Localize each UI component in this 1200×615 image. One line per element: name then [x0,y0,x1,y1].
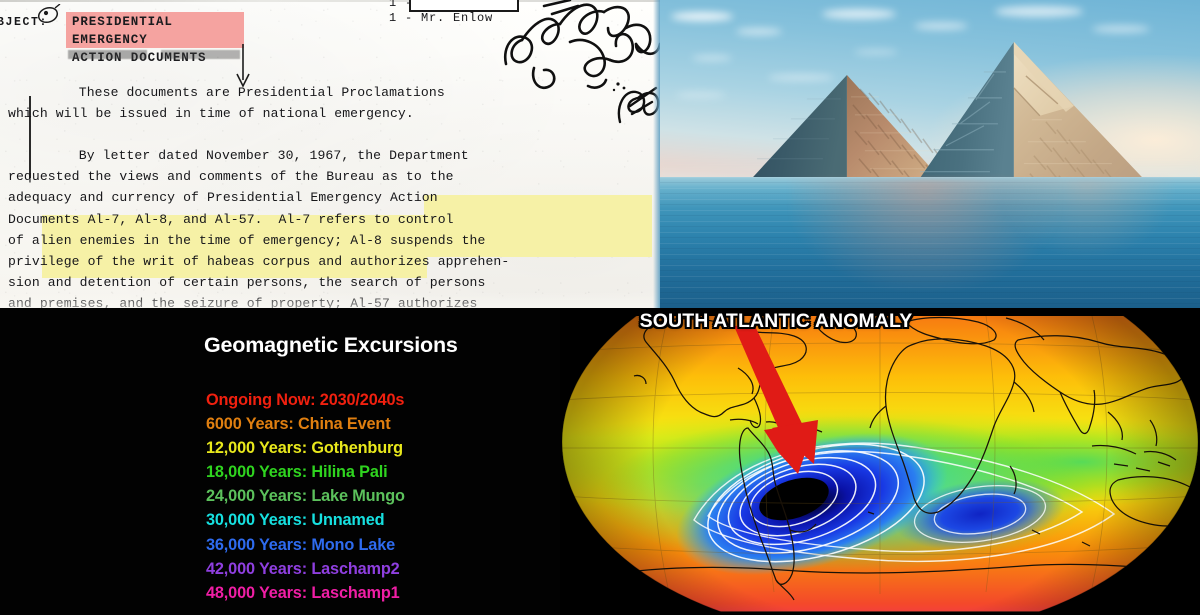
panel-declassified-fbi-memo: BJECT: PRESIDENTIAL EMERGENCY ACTION DOC… [0,0,660,308]
list-item: 36,000 Years: Mono Lake [206,533,536,557]
circled-pen-mark-icon [37,4,61,26]
list-item: Ongoing Now: 2030/2040s [206,388,536,412]
list-item: 12,000 Years: Gothenburg [206,436,536,460]
list-item: 6000 Years: China Event [206,412,536,436]
cloud [914,22,968,30]
subject-underline-marks [68,50,240,59]
list-item: 24,000 Years: Lake Mungo [206,484,536,508]
panel-geomagnetic-excursions: Geomagnetic Excursions Ongoing Now: 2030… [0,308,560,615]
anomaly-label: SOUTH ATLANTIC ANOMALY [566,310,986,333]
list-item: 42,000 Years: Laschamp2 [206,557,536,581]
cc-line-2: 1 - Mr. Enlow [389,11,493,25]
excursions-title: Geomagnetic Excursions [204,333,458,358]
globe-field-layer [562,316,1198,612]
document-paragraph-1: These documents are Presidential Proclam… [8,85,445,121]
document-right-scan-edge [653,0,660,308]
red-arrow-icon [720,324,830,484]
panel-south-atlantic-anomaly: SOUTH ATLANTIC ANOMALY [560,308,1200,615]
list-item: 48,000 Years: Laschamp1 [206,581,536,605]
pyramid-water-reflection-secondary [995,179,1179,259]
list-item: 18,000 Years: Hilina Pali [206,460,536,484]
composite-image: BJECT: PRESIDENTIAL EMERGENCY ACTION DOC… [0,0,1200,615]
document-bottom-crop-fade [0,292,660,308]
list-item: 30,000 Years: Unnamed [206,508,536,532]
document-body-text: These documents are Presidential Proclam… [8,82,648,308]
excursions-list: Ongoing Now: 2030/2040s 6000 Years: Chin… [206,388,536,605]
panel-submerged-pyramids [660,0,1200,308]
cloud [1092,25,1150,33]
cloud [736,28,782,35]
global-magnetic-field-map [562,316,1198,612]
